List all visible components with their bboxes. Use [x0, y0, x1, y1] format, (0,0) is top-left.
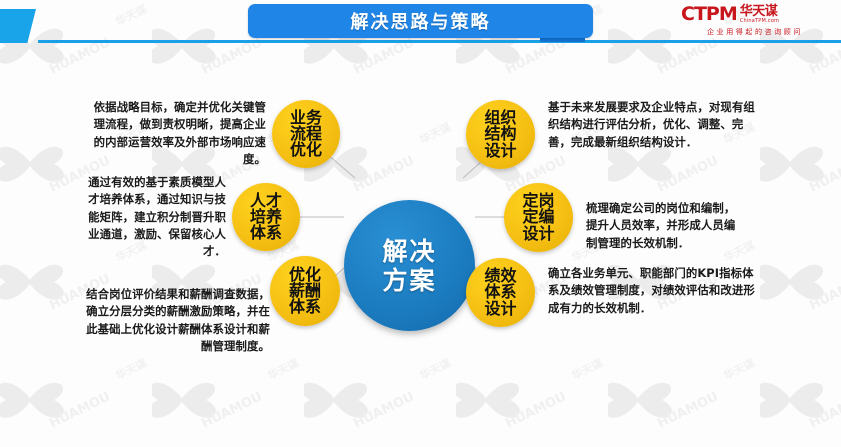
page-title-text: 解决思路与策略 [351, 8, 491, 34]
center-label-line-2: 方案 [382, 266, 436, 295]
node-label-line-3: 设计 [484, 143, 516, 159]
desc-business-process-optimization: 依据战略目标，确定并优化关键管理流程，做到责权明晰，提高企业的内部运营效率及外部… [92, 99, 266, 168]
center-label-line-1: 解决 [382, 237, 436, 266]
desc-compensation-system-optimization: 结合岗位评价结果和薪酬调查数据，确立分层分类的薪酬激励策略，并在此基础上优化设计… [86, 286, 270, 355]
node-label-line-3: 体系 [289, 299, 321, 315]
header-accent-shape [0, 9, 36, 43]
logo-wordmark-row: CTPM 华天谋 ChinaTPM.com [681, 5, 833, 24]
node-label-line-3: 设计 [522, 226, 554, 242]
desc-organization-structure-design: 基于未来发展要求及企业特点，对现有组织结构进行评估分析，优化、调整、完善，完成最… [548, 99, 760, 151]
diagram-center-node[interactable]: 解决 方案 [344, 200, 475, 331]
logo-tagline: 企业用得起的咨询顾问 [681, 27, 829, 37]
logo-domain-text: ChinaTPM.com [740, 18, 779, 24]
node-performance-system-design[interactable]: 绩效 体系 设计 [466, 258, 535, 327]
logo-chinese-text: 华天谋 [740, 5, 778, 18]
page-title: 解决思路与策略 [248, 4, 593, 38]
logo-chinese-block: 华天谋 ChinaTPM.com [740, 5, 779, 24]
logo-latin-text: CTPM [681, 5, 737, 24]
solution-diagram: 解决 方案 业务 流程 优化 依据战略目标，确定并优化关键管理流程，做到责权明晰… [0, 48, 841, 447]
node-label-line-3: 优化 [290, 142, 322, 158]
node-business-process-optimization[interactable]: 业务 流程 优化 [272, 100, 340, 168]
page-header: 解决思路与策略 CTPM 华天谋 ChinaTPM.com 企业用得起的咨询顾问 [0, 0, 841, 48]
desc-position-staffing-design: 梳理确定公司的岗位和编制，提升人员效率，并形成人员编制管理的长效机制． [586, 200, 740, 252]
node-talent-development-system[interactable]: 人才 培养 体系 [232, 183, 300, 251]
node-label-line-3: 体系 [250, 225, 282, 241]
company-logo: CTPM 华天谋 ChinaTPM.com 企业用得起的咨询顾问 [681, 5, 833, 41]
node-compensation-system-optimization[interactable]: 优化 薪酬 体系 [270, 256, 340, 326]
desc-performance-system-design: 确立各业务单元、职能部门的KPI指标体系及绩效管理制度，对绩效评估和改进形成有力… [548, 265, 760, 317]
node-label-line-3: 设计 [484, 301, 516, 317]
desc-talent-development-system: 通过有效的基于素质模型人才培养体系，通过知识与技能矩阵，建立积分制晋升职业通道，… [88, 174, 226, 261]
node-organization-structure-design[interactable]: 组织 结构 设计 [466, 100, 535, 169]
node-position-staffing-design[interactable]: 定岗 定编 设计 [504, 183, 573, 252]
